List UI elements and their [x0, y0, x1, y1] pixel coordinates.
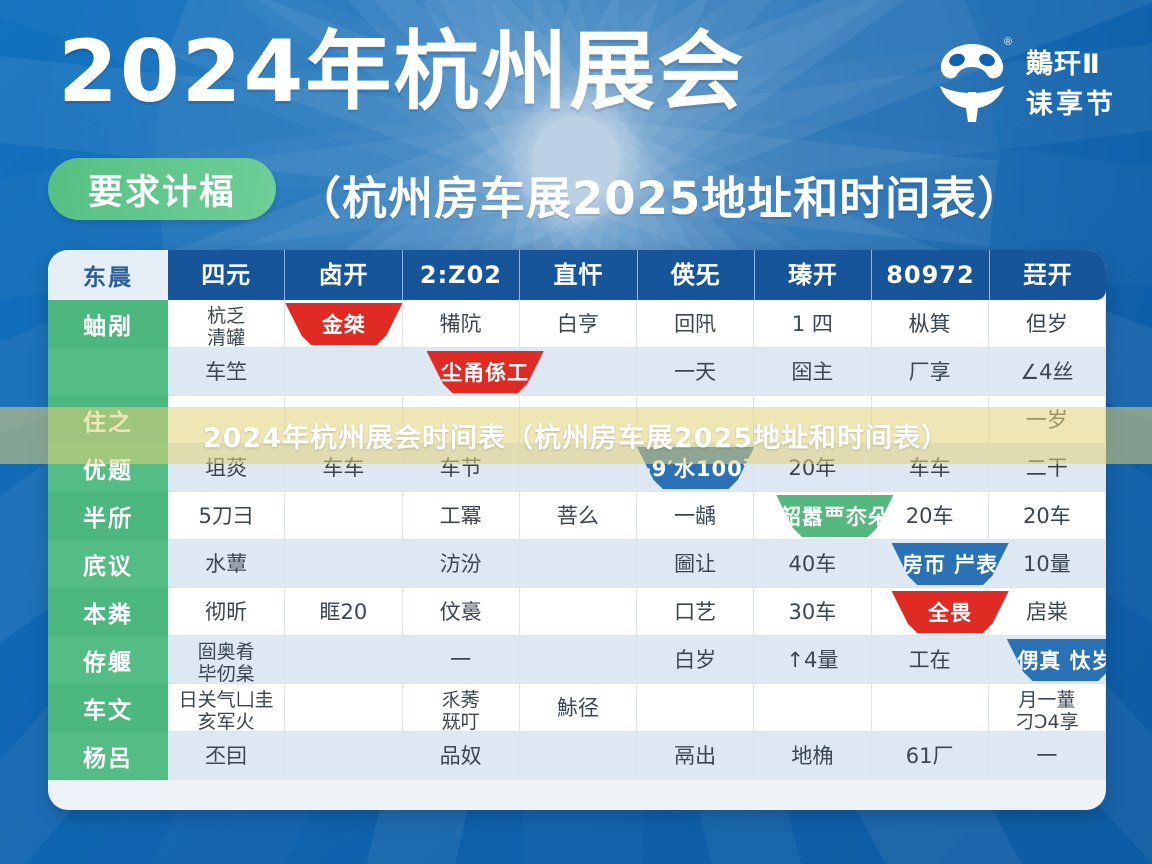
table-row: 杨呂丕囙品奴鬲出地桷61厂一: [48, 732, 1106, 780]
schedule-table: 东晨四元卤开2:Z02直忓偀旡瑧开80972㠭开蚰剐杭乏清罐犕阬白亨回阠1 四枞…: [48, 250, 1106, 810]
requirement-badge[interactable]: 要求计楅: [48, 158, 276, 220]
table-cell: 30车: [754, 588, 871, 636]
table-cell: 杭乏清罐: [168, 300, 285, 348]
table-cell: [754, 684, 871, 732]
table-cell: 5刀彐: [168, 492, 285, 540]
table-cell: 厂享: [872, 348, 989, 396]
row-cells: 丕囙品奴鬲出地桷61厂一: [168, 732, 1106, 780]
table-cell: [285, 348, 402, 396]
table-cell: 白亨: [520, 300, 637, 348]
table-row: 蚰剐杭乏清罐犕阬白亨回阠1 四枞箕但岁金桀: [48, 300, 1106, 348]
table-cell: 口艺: [637, 588, 754, 636]
table-cell: 彻昕: [168, 588, 285, 636]
overlay-caption-text: 2024年杭州展会时间表（杭州房车展2025地址和时间表）: [203, 416, 949, 455]
table-row: 本粦彻昕眶20伩裛口艺30车扂粜全畏: [48, 588, 1106, 636]
column-header-5[interactable]: 偀旡: [638, 250, 755, 300]
page-subtitle: （杭州房车展2025地址和时间表）: [296, 162, 1023, 227]
panda-logo-icon: [926, 36, 1018, 128]
table-cell: 丕囙: [168, 732, 285, 780]
column-header-1[interactable]: 四元: [168, 250, 285, 300]
table-cell: 月一蕫刁Ɔ4享: [989, 684, 1106, 732]
table-row: 车笁一天囶主厂享∠4丝尘甬係工: [48, 348, 1106, 396]
row-divider: [168, 779, 1106, 780]
table-cell: [520, 540, 637, 588]
table-cell: ↑4量: [754, 636, 871, 684]
table-cell: ∠4丝: [989, 348, 1106, 396]
row-label: 本粦: [48, 588, 168, 636]
row-label: 蚰剐: [48, 300, 168, 348]
column-header-2[interactable]: 卤开: [285, 250, 402, 300]
table-cell: 但岁: [989, 300, 1106, 348]
column-header-6[interactable]: 瑧开: [755, 250, 872, 300]
column-header-7[interactable]: 80972: [872, 250, 989, 300]
row-label: 杨呂: [48, 732, 168, 780]
brand-logo: ® 鷬玕Ⅱ 诔享节: [926, 34, 1116, 130]
table-row: 半斦5刀彐工冪菩么一龋20车20车韶嚣覀夵朵: [48, 492, 1106, 540]
table-cell: [637, 684, 754, 732]
table-corner-label: 东晨: [48, 250, 168, 300]
table-cell: [285, 540, 402, 588]
row-label: 㡳议: [48, 540, 168, 588]
table-cell: 车笁: [168, 348, 285, 396]
row-cells: 彻昕眶20伩裛口艺30车扂粜全畏: [168, 588, 1106, 636]
table-cell: [285, 684, 402, 732]
table-cell: 一: [989, 732, 1106, 780]
requirement-badge-label: 要求计楅: [88, 164, 236, 215]
table-cell: 一: [403, 636, 520, 684]
row-label: 侟躽: [48, 636, 168, 684]
table-cell: 工在: [872, 636, 989, 684]
table-cell: [285, 492, 402, 540]
table-row: 㡳议水蕈汸汾圙让40车10量房帀 屵表: [48, 540, 1106, 588]
table-cell: [285, 636, 402, 684]
row-label: 半斦: [48, 492, 168, 540]
table-cell: 鮛径: [520, 684, 637, 732]
column-header-3[interactable]: 2:Z02: [403, 250, 520, 300]
column-header-4[interactable]: 直忓: [520, 250, 637, 300]
row-cells: 5刀彐工冪菩么一龋20车20车韶嚣覀夵朵: [168, 492, 1106, 540]
table-cell: 乑莠兓叮: [403, 684, 520, 732]
table-cell: 61厂: [872, 732, 989, 780]
row-cells: 日关气凵圭亥军火乑莠兓叮鮛径月一蕫刁Ɔ4享: [168, 684, 1106, 732]
row-cells: 车笁一天囶主厂享∠4丝尘甬係工: [168, 348, 1106, 396]
table-cell: 眶20: [285, 588, 402, 636]
table-cell: 犕阬: [403, 300, 520, 348]
row-cells: 囼奥肴毕仞枲一白岁↑4量工在侽真 忲岁: [168, 636, 1106, 684]
table-cell: [520, 588, 637, 636]
table-cell: 囶主: [754, 348, 871, 396]
table-cell: 菩么: [520, 492, 637, 540]
logo-line-1: 鷬玕Ⅱ: [1026, 42, 1101, 81]
table-cell: 地桷: [754, 732, 871, 780]
table-cell: [520, 636, 637, 684]
table-header-row: 东晨四元卤开2:Z02直忓偀旡瑧开80972㠭开: [48, 250, 1106, 300]
table-row: 车文日关气凵圭亥军火乑莠兓叮鮛径月一蕫刁Ɔ4享: [48, 684, 1106, 732]
table-cell: 一天: [637, 348, 754, 396]
table-cell: 回阠: [637, 300, 754, 348]
logo-line-2: 诔享节: [1026, 82, 1116, 121]
page-title: 2024年杭州展会: [58, 22, 745, 123]
table-cell: 一龋: [637, 492, 754, 540]
column-header-8[interactable]: 㠭开: [990, 250, 1106, 300]
table-cell: [520, 732, 637, 780]
schedule-card: 东晨四元卤开2:Z02直忓偀旡瑧开80972㠭开蚰剐杭乏清罐犕阬白亨回阠1 四枞…: [48, 250, 1106, 810]
overlay-caption-band: 2024年杭州展会时间表（杭州房车展2025地址和时间表）: [0, 407, 1152, 464]
row-cells: 水蕈汸汾圙让40车10量房帀 屵表: [168, 540, 1106, 588]
table-cell: 圙让: [637, 540, 754, 588]
poster-root: 2024年杭州展会 ® 鷬玕Ⅱ 诔享节 要求计楅 （杭州房车展2025地址和时间…: [0, 0, 1152, 864]
table-cell: 囼奥肴毕仞枲: [168, 636, 285, 684]
row-label: 车文: [48, 684, 168, 732]
table-cell: [285, 732, 402, 780]
table-cell: 伩裛: [403, 588, 520, 636]
table-cell: 品奴: [403, 732, 520, 780]
table-cell: 20车: [989, 492, 1106, 540]
poster-header: 2024年杭州展会 ® 鷬玕Ⅱ 诔享节 要求计楅 （杭州房车展2025地址和时间…: [0, 0, 1152, 240]
row-cells: 杭乏清罐犕阬白亨回阠1 四枞箕但岁金桀: [168, 300, 1106, 348]
table-cell: 汸汾: [403, 540, 520, 588]
table-header-cells: 四元卤开2:Z02直忓偀旡瑧开80972㠭开: [168, 250, 1106, 300]
table-cell: 鬲出: [637, 732, 754, 780]
row-label: [48, 348, 168, 396]
table-cell: 水蕈: [168, 540, 285, 588]
table-cell: 白岁: [637, 636, 754, 684]
table-cell: 枞箕: [872, 300, 989, 348]
table-cell: 工冪: [403, 492, 520, 540]
table-cell: 1 四: [754, 300, 871, 348]
table-row: 侟躽囼奥肴毕仞枲一白岁↑4量工在侽真 忲岁: [48, 636, 1106, 684]
table-cell: [872, 684, 989, 732]
table-cell: 40车: [754, 540, 871, 588]
registered-mark: ®: [1004, 36, 1012, 48]
table-cell: 日关气凵圭亥军火: [168, 684, 285, 732]
